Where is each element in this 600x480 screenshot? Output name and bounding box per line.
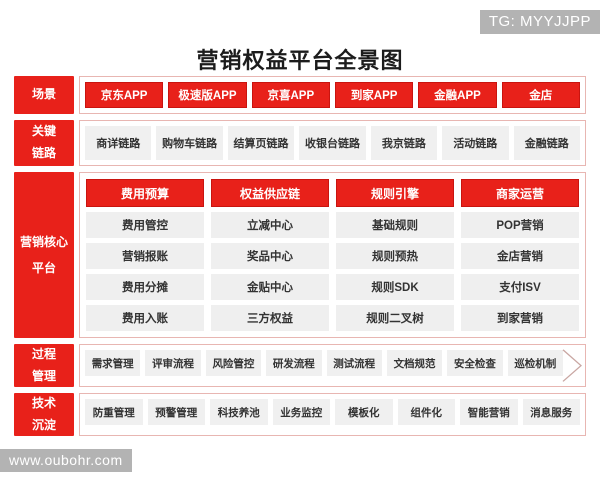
scene-chip-daojia-app[interactable]: 到家APP: [335, 82, 413, 108]
tech-chip-alerting[interactable]: 预警管理: [148, 399, 206, 425]
row-panel-scene: 京东APP 极速版APP 京喜APP 到家APP 金融APP 金店: [79, 76, 586, 114]
core-column-rule-engine: 规则引擎 基础规则 规则预热 规则SDK 规则二叉树: [336, 179, 454, 331]
core-cell-budget-4[interactable]: 费用入账: [86, 305, 204, 331]
process-chip-risk[interactable]: 风险管控: [206, 350, 261, 376]
key-link-chip-campaign[interactable]: 活动链路: [442, 126, 508, 160]
row-category-label-line1: 营销核心: [20, 229, 68, 255]
core-cell-supply-3[interactable]: 金贴中心: [211, 274, 329, 300]
core-column-header-merchant-ops[interactable]: 商家运营: [461, 179, 579, 207]
core-cell-rule-1[interactable]: 基础规则: [336, 212, 454, 238]
tech-chip-business-monitor[interactable]: 业务监控: [273, 399, 331, 425]
process-chip-testing[interactable]: 测试流程: [327, 350, 382, 376]
row-panel-key-links: 商详链路 购物车链路 结算页链路 收银台链路 我京链路 活动链路 金融链路: [79, 120, 586, 166]
row-category-tech-foundation: 技术 沉淀: [14, 393, 74, 436]
row-category-label: 场景: [32, 84, 56, 106]
tech-chip-tech-pool[interactable]: 科技养池: [210, 399, 268, 425]
core-cell-merchant-2[interactable]: 金店营销: [461, 243, 579, 269]
tech-chip-componentization[interactable]: 组件化: [398, 399, 456, 425]
arrow-right-icon: [562, 349, 582, 382]
core-cell-supply-4[interactable]: 三方权益: [211, 305, 329, 331]
process-chip-security[interactable]: 安全检查: [447, 350, 502, 376]
row-panel-core-platform: 费用预算 费用管控 营销报账 费用分摊 费用入账 权益供应链 立减中心 奖品中心…: [79, 172, 586, 338]
row-category-scene: 场景: [14, 76, 74, 114]
diagram-row-key-links: 关键 链路 商详链路 购物车链路 结算页链路 收银台链路 我京链路 活动链路 金…: [14, 120, 586, 166]
row-category-key-links: 关键 链路: [14, 120, 74, 166]
key-link-chip-checkout[interactable]: 结算页链路: [228, 126, 294, 160]
scene-chip-jd-app[interactable]: 京东APP: [85, 82, 163, 108]
diagram-row-scene: 场景 京东APP 极速版APP 京喜APP 到家APP 金融APP 金店: [14, 76, 586, 114]
key-link-chip-cashier[interactable]: 收银台链路: [299, 126, 365, 160]
core-column-header-rule-engine[interactable]: 规则引擎: [336, 179, 454, 207]
core-cell-supply-2[interactable]: 奖品中心: [211, 243, 329, 269]
row-category-label-line2: 平台: [32, 255, 56, 281]
scene-chip-finance-app[interactable]: 金融APP: [418, 82, 496, 108]
diagram-row-core-platform: 营销核心 平台 费用预算 费用管控 营销报账 费用分摊 费用入账 权益供应链 立…: [14, 172, 586, 338]
row-panel-process-management: 需求管理 评审流程 风险管控 研发流程 测试流程 文档规范 安全检查 巡检机制: [79, 344, 586, 387]
core-column-merchant-ops: 商家运营 POP营销 金店营销 支付ISV 到家营销: [461, 179, 579, 331]
core-cell-budget-3[interactable]: 费用分摊: [86, 274, 204, 300]
scene-chip-jindian[interactable]: 金店: [502, 82, 580, 108]
architecture-diagram: 场景 京东APP 极速版APP 京喜APP 到家APP 金融APP 金店 关键 …: [14, 76, 586, 436]
core-column-header-supply-chain[interactable]: 权益供应链: [211, 179, 329, 207]
row-category-label-line1: 关键: [32, 121, 56, 143]
key-link-chip-cart[interactable]: 购物车链路: [156, 126, 222, 160]
process-chip-review[interactable]: 评审流程: [145, 350, 200, 376]
core-cell-merchant-4[interactable]: 到家营销: [461, 305, 579, 331]
core-cell-rule-3[interactable]: 规则SDK: [336, 274, 454, 300]
process-chip-inspection[interactable]: 巡检机制: [508, 350, 563, 376]
scene-chip-jingxi-app[interactable]: 京喜APP: [252, 82, 330, 108]
row-category-label-line2: 链路: [32, 143, 56, 165]
row-category-label-line2: 管理: [32, 366, 56, 388]
core-column-header-budget[interactable]: 费用预算: [86, 179, 204, 207]
core-cell-merchant-1[interactable]: POP营销: [461, 212, 579, 238]
key-link-chip-myjd[interactable]: 我京链路: [371, 126, 437, 160]
tech-chip-dedup[interactable]: 防重管理: [85, 399, 143, 425]
telegram-watermark: TG: MYYJJPP: [480, 10, 600, 34]
core-cell-budget-1[interactable]: 费用管控: [86, 212, 204, 238]
row-category-label-line2: 沉淀: [32, 415, 56, 437]
site-watermark: www.oubohr.com: [0, 449, 132, 472]
diagram-row-process-management: 过程 管理 需求管理 评审流程 风险管控 研发流程 测试流程 文档规范 安全检查…: [14, 344, 586, 387]
key-link-chip-detail[interactable]: 商详链路: [85, 126, 151, 160]
row-panel-tech-foundation: 防重管理 预警管理 科技养池 业务监控 模板化 组件化 智能营销 消息服务: [79, 393, 586, 436]
core-column-budget: 费用预算 费用管控 营销报账 费用分摊 费用入账: [86, 179, 204, 331]
tech-chip-templating[interactable]: 模板化: [335, 399, 393, 425]
process-chip-requirements[interactable]: 需求管理: [85, 350, 140, 376]
scene-chip-lite-app[interactable]: 极速版APP: [168, 82, 246, 108]
tech-chip-smart-marketing[interactable]: 智能营销: [460, 399, 518, 425]
core-cell-merchant-3[interactable]: 支付ISV: [461, 274, 579, 300]
core-cell-rule-4[interactable]: 规则二叉树: [336, 305, 454, 331]
core-column-supply-chain: 权益供应链 立减中心 奖品中心 金贴中心 三方权益: [211, 179, 329, 331]
row-category-label-line1: 过程: [32, 344, 56, 366]
row-category-label-line1: 技术: [32, 393, 56, 415]
diagram-row-tech-foundation: 技术 沉淀 防重管理 预警管理 科技养池 业务监控 模板化 组件化 智能营销 消…: [14, 393, 586, 436]
row-category-process-management: 过程 管理: [14, 344, 74, 387]
page-title: 营销权益平台全景图: [0, 43, 600, 75]
process-chip-development[interactable]: 研发流程: [266, 350, 321, 376]
process-chip-documentation[interactable]: 文档规范: [387, 350, 442, 376]
key-link-chip-finance[interactable]: 金融链路: [514, 126, 580, 160]
tech-chip-message-service[interactable]: 消息服务: [523, 399, 581, 425]
core-cell-budget-2[interactable]: 营销报账: [86, 243, 204, 269]
core-cell-rule-2[interactable]: 规则预热: [336, 243, 454, 269]
row-category-core-platform: 营销核心 平台: [14, 172, 74, 338]
core-cell-supply-1[interactable]: 立减中心: [211, 212, 329, 238]
